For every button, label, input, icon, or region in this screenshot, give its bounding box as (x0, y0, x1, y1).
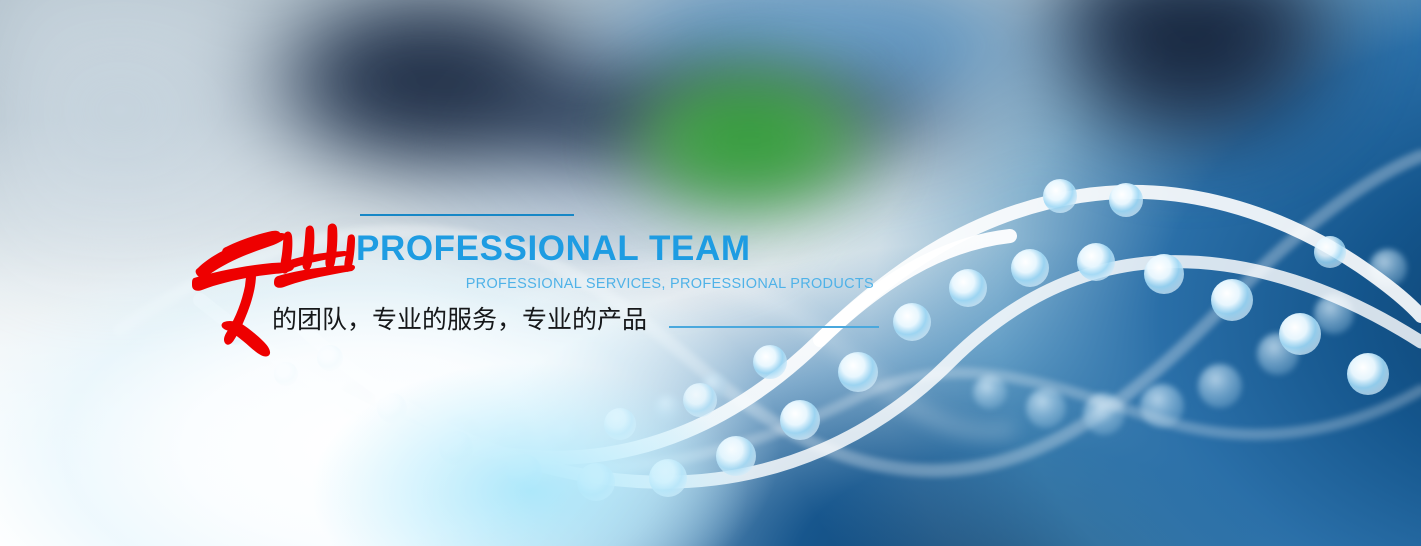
headline-block: PROFESSIONAL TEAM PROFESSIONAL SERVICES,… (356, 214, 916, 293)
tagline-text: 的团队，专业的服务，专业的产品 (272, 303, 647, 337)
tagline-row: 的团队，专业的服务，专业的产品 (272, 303, 912, 337)
subtitle: PROFESSIONAL SERVICES, PROFESSIONAL PROD… (356, 275, 874, 293)
professional-team-banner: PROFESSIONAL TEAM PROFESSIONAL SERVICES,… (0, 0, 1421, 546)
top-accent-rule (360, 214, 574, 216)
page-title: PROFESSIONAL TEAM (356, 230, 916, 268)
bottom-accent-rule (669, 326, 879, 328)
